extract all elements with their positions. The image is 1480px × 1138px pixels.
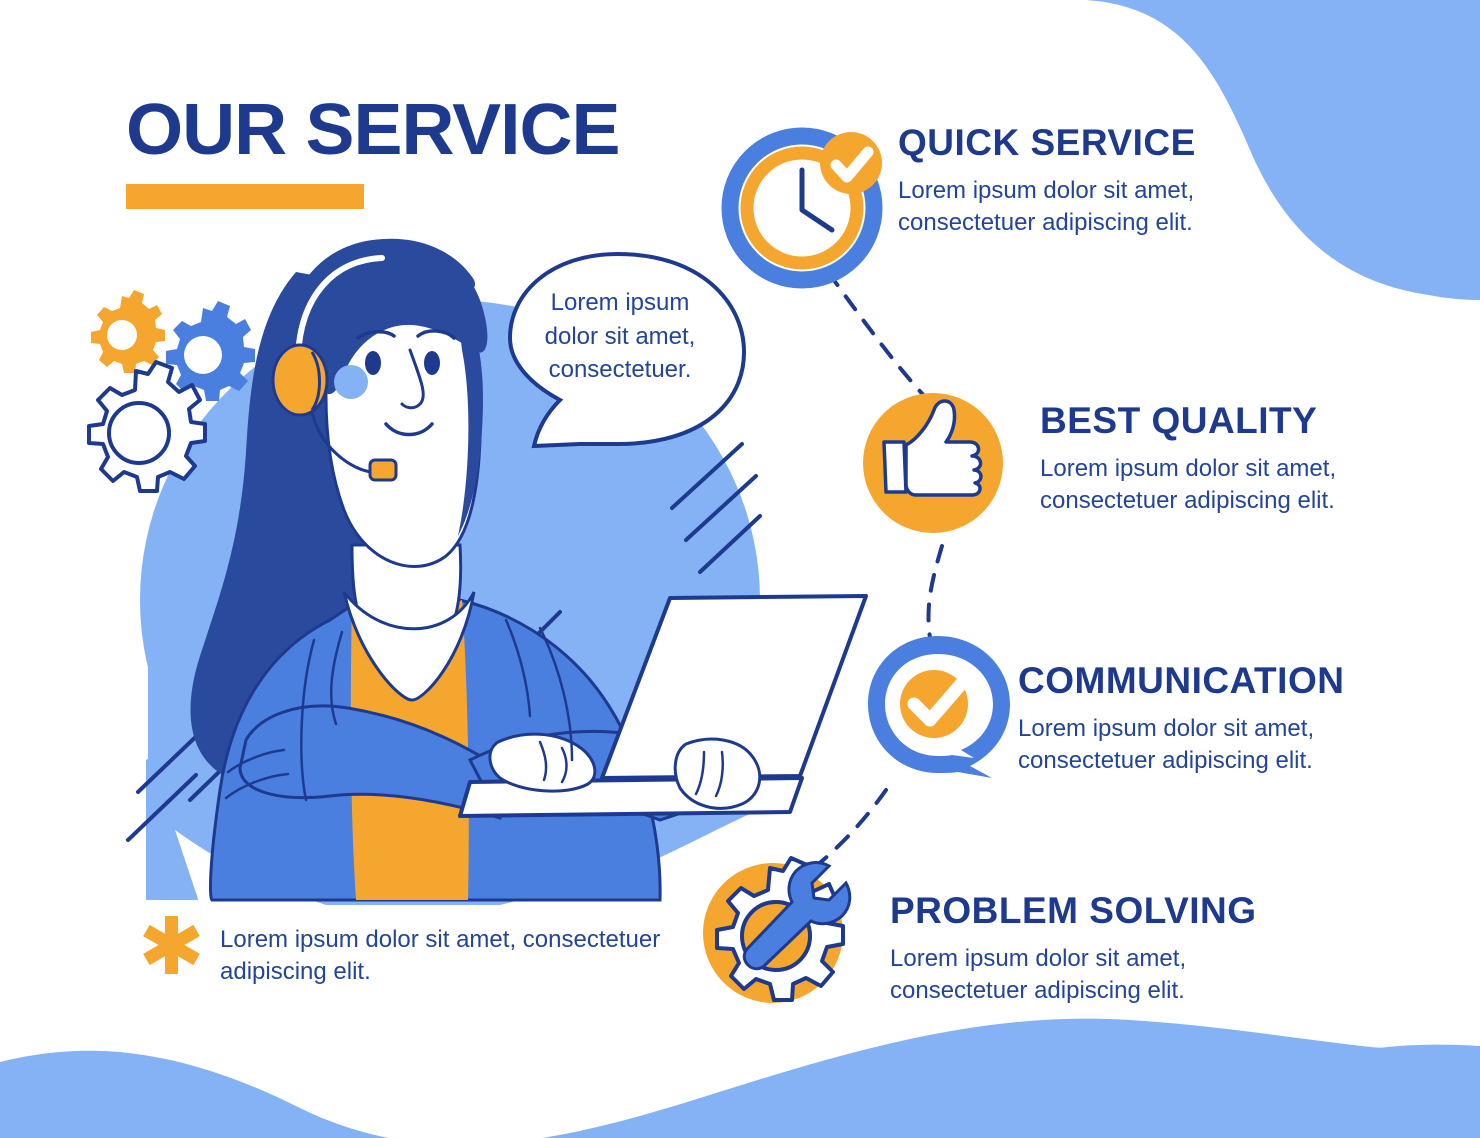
connector-quality-to-communication bbox=[929, 546, 943, 638]
asterisk-icon bbox=[144, 916, 198, 974]
feature-body-problem-solving: Lorem ipsum dolor sit amet, consectetuer… bbox=[890, 943, 1257, 1007]
thumbs-up-icon[interactable] bbox=[858, 388, 1008, 538]
feature-block-communication: COMMUNICATION Lorem ipsum dolor sit amet… bbox=[1018, 662, 1344, 777]
feature-body-quick-service: Lorem ipsum dolor sit amet, consectetuer… bbox=[898, 175, 1196, 239]
feature-body-best-quality: Lorem ipsum dolor sit amet, consectetuer… bbox=[1040, 453, 1336, 517]
feature-title-best-quality: BEST QUALITY bbox=[1040, 402, 1336, 439]
feature-title-problem-solving: PROBLEM SOLVING bbox=[890, 892, 1257, 929]
infographic-poster: OUR SERVICE bbox=[0, 0, 1480, 1138]
connector-communication-to-problem bbox=[816, 790, 886, 866]
feature-title-communication: COMMUNICATION bbox=[1018, 662, 1344, 699]
feature-block-best-quality: BEST QUALITY Lorem ipsum dolor sit amet,… bbox=[1040, 402, 1336, 517]
feature-block-quick-service: QUICK SERVICE Lorem ipsum dolor sit amet… bbox=[898, 124, 1196, 239]
feature-body-communication: Lorem ipsum dolor sit amet, consectetuer… bbox=[1018, 713, 1344, 777]
footnote-text: Lorem ipsum dolor sit amet, consectetuer… bbox=[220, 916, 660, 988]
feature-title-quick-service: QUICK SERVICE bbox=[898, 124, 1196, 161]
connector-quick-to-quality bbox=[828, 272, 928, 400]
speech-bubble-check-icon[interactable] bbox=[862, 628, 1022, 788]
feature-block-problem-solving: PROBLEM SOLVING Lorem ipsum dolor sit am… bbox=[890, 892, 1257, 1007]
footnote: Lorem ipsum dolor sit amet, consectetuer… bbox=[144, 916, 660, 988]
clock-check-icon[interactable] bbox=[722, 120, 892, 290]
gear-wrench-icon[interactable] bbox=[698, 856, 848, 1006]
